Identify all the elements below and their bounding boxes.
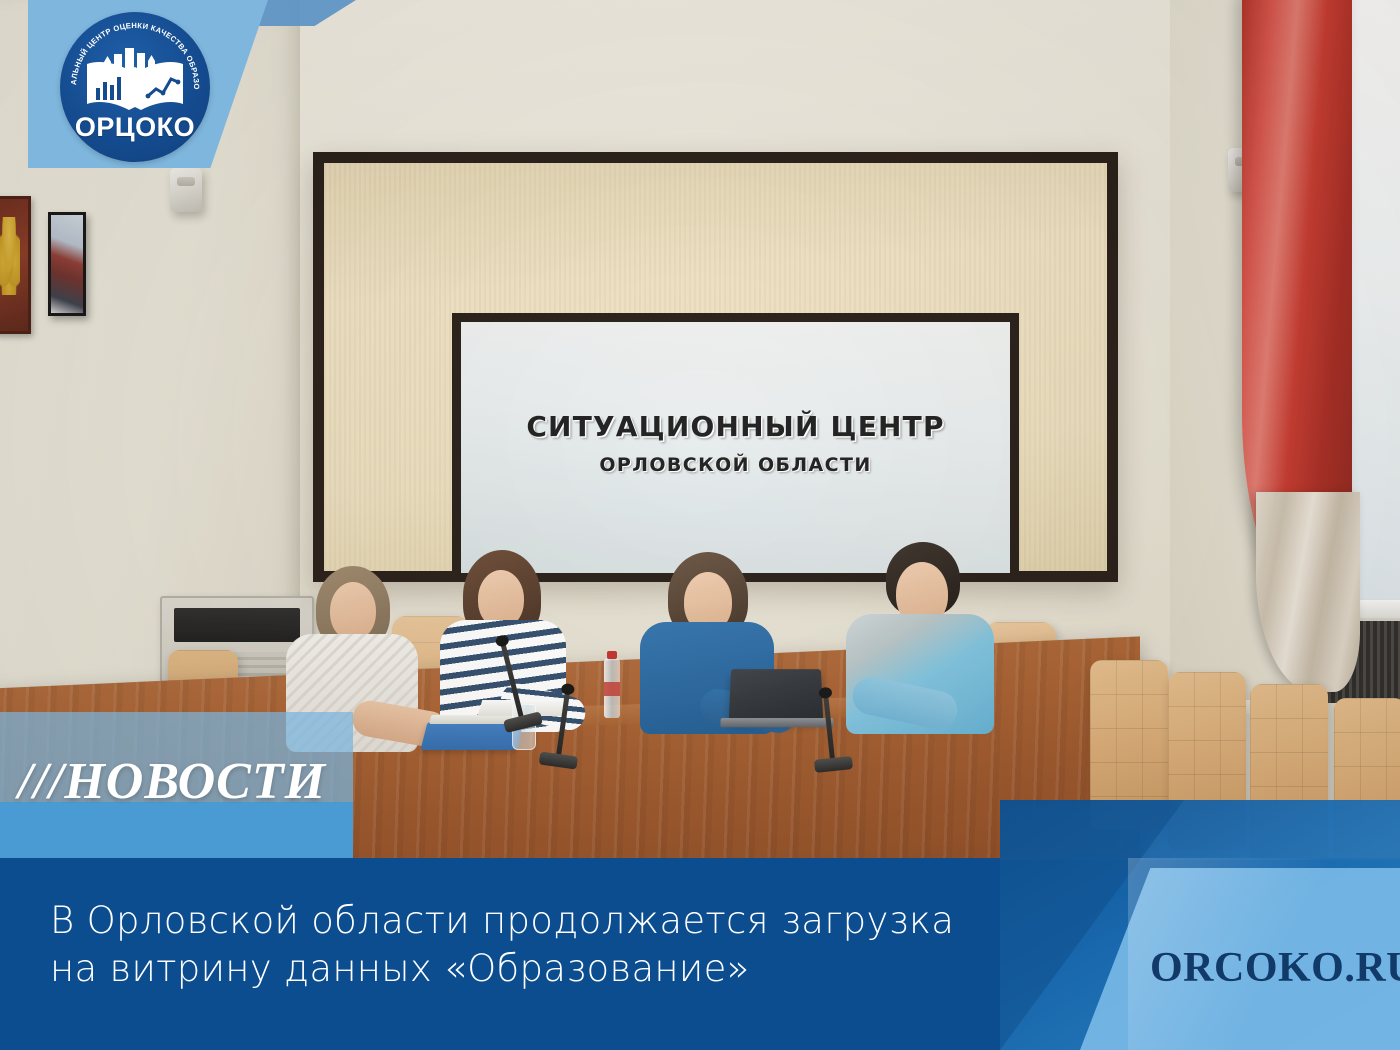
double-headed-eagle-icon	[0, 217, 20, 295]
website-url[interactable]: ORCOKO.RU	[1150, 944, 1400, 992]
bottle-label	[604, 682, 620, 696]
news-headline: В Орловской области продолжается загрузк…	[50, 897, 1030, 993]
participant-1-head	[330, 582, 376, 640]
news-card: СИТУАЦИОННЫЙ ЦЕНТР ОРЛОВСКОЙ ОБЛАСТИ	[0, 0, 1400, 1050]
bottle-cap	[607, 651, 617, 659]
coat-of-arms-plaque	[0, 196, 31, 334]
news-category-label: ///НОВОСТИ	[18, 752, 358, 811]
portrait-image	[51, 215, 83, 313]
wall-sign-text: СИТУАЦИОННЫЙ ЦЕНТР ОРЛОВСКОЙ ОБЛАСТИ	[461, 410, 1010, 476]
situation-centre-sign-frame: СИТУАЦИОННЫЙ ЦЕНТР ОРЛОВСКОЙ ОБЛАСТИ	[313, 152, 1118, 582]
laptop	[729, 669, 823, 720]
wall-sign-line-1: СИТУАЦИОННЫЙ ЦЕНТР	[461, 410, 1010, 443]
wall-speaker-left	[170, 168, 202, 212]
framed-portrait	[48, 212, 86, 316]
orcoko-logo[interactable]: РЕГИОНАЛЬНЫЙ ЦЕНТР ОЦЕНКИ КАЧЕСТВА ОБРАЗ…	[60, 12, 210, 162]
logo-abbreviation: ОРЦОКО	[60, 112, 210, 143]
headline-line-2: на витрину данных «Образование»	[50, 945, 1030, 993]
open-book-chart-icon	[84, 48, 186, 114]
projection-screen: СИТУАЦИОННЫЙ ЦЕНТР ОРЛОВСКОЙ ОБЛАСТИ	[452, 313, 1019, 573]
headline-line-1: В Орловской области продолжается загрузк…	[50, 897, 1030, 945]
water-bottle	[604, 658, 620, 718]
wall-sign-line-2: ОРЛОВСКОЙ ОБЛАСТИ	[461, 454, 1010, 476]
